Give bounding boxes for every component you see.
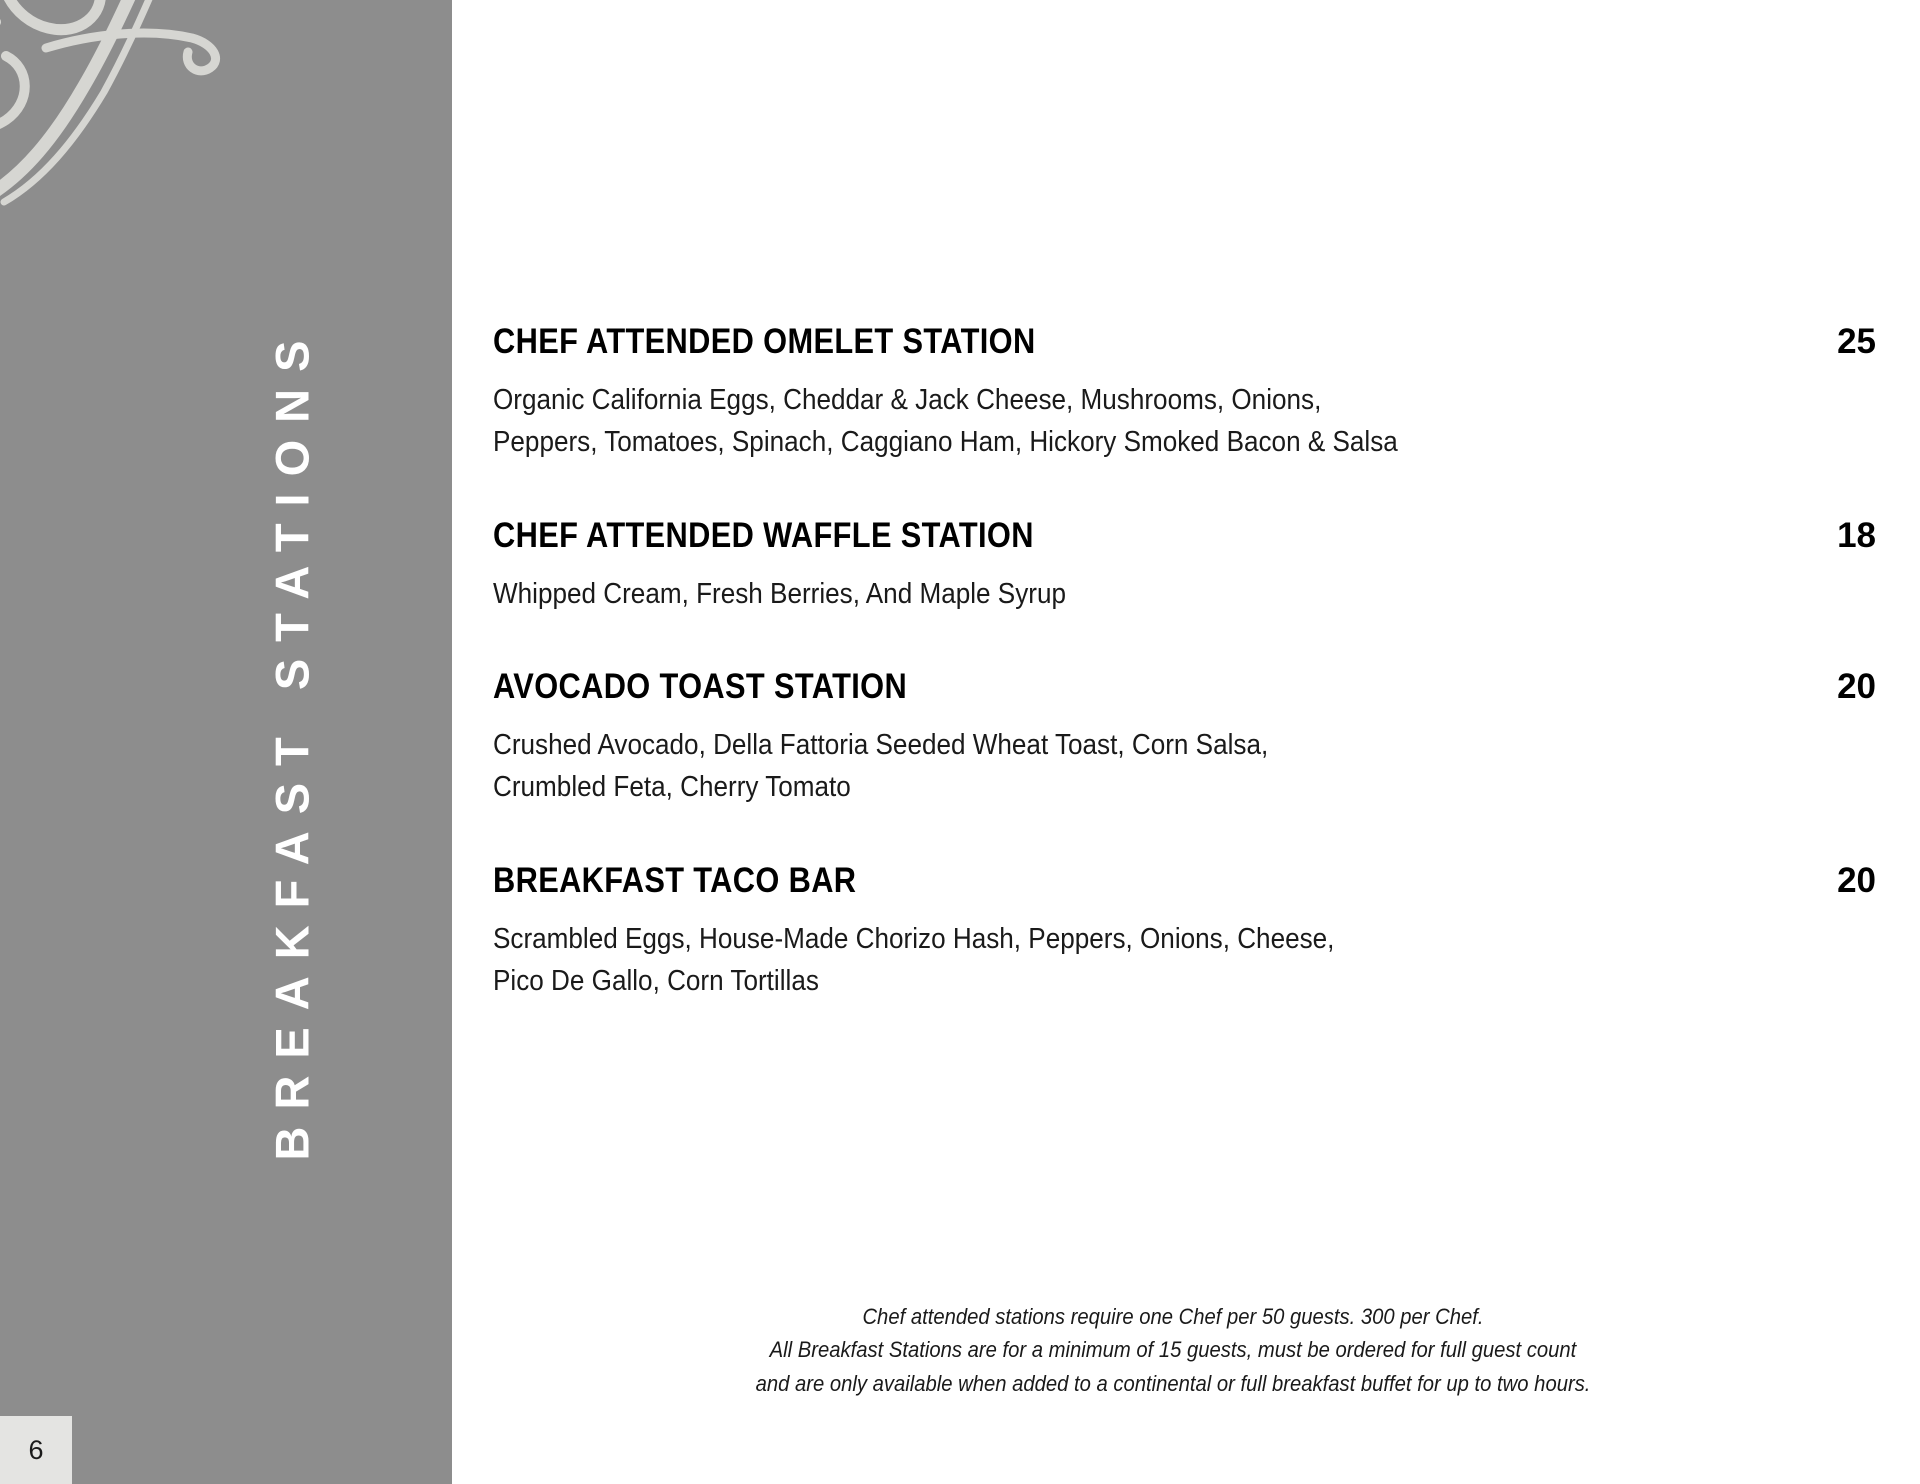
menu-item-name: BREAKFAST TACO BAR [493,861,856,901]
footer-note: Chef attended stations require one Chef … [493,1300,1853,1400]
footer-note-line: All Breakfast Stations are for a minimum… [547,1333,1798,1366]
menu-item-description: Crushed Avocado, Della Fattoria Seeded W… [493,724,1878,809]
sidebar: BREAKFAST STATIONS [0,0,452,1484]
sidebar-vertical-title: BREAKFAST STATIONS [0,0,452,1484]
menu-item-description-line: Crumbled Feta, Cherry Tomato [493,766,1740,808]
menu-item-name: AVOCADO TOAST STATION [493,667,907,707]
menu-item-price: 20 [1837,861,1878,901]
menu-item-description: Whipped Cream, Fresh Berries, And Maple … [493,573,1878,615]
menu-item: CHEF ATTENDED WAFFLE STATION 18 Whipped … [493,516,1878,615]
menu-item-price: 25 [1837,322,1878,362]
page-number: 6 [0,1416,72,1484]
menu-item-description-line: Crushed Avocado, Della Fattoria Seeded W… [493,724,1740,766]
footer-note-line: and are only available when added to a c… [547,1367,1798,1400]
menu-item-description-line: Scrambled Eggs, House-Made Chorizo Hash,… [493,918,1740,960]
main-content: CHEF ATTENDED OMELET STATION 25 Organic … [493,0,1878,1484]
menu-item-description-line: Pico De Gallo, Corn Tortillas [493,960,1740,1002]
menu-page: BREAKFAST STATIONS 6 CHEF ATTENDED OMELE… [0,0,1920,1484]
footer-note-line: Chef attended stations require one Chef … [547,1300,1798,1333]
menu-item: AVOCADO TOAST STATION 20 Crushed Avocado… [493,667,1878,809]
menu-item-name: CHEF ATTENDED OMELET STATION [493,322,1036,362]
menu-item-description: Scrambled Eggs, House-Made Chorizo Hash,… [493,918,1878,1003]
menu-item-description: Organic California Eggs, Cheddar & Jack … [493,379,1878,464]
menu-item-name: CHEF ATTENDED WAFFLE STATION [493,516,1034,556]
menu-item-description-line: Whipped Cream, Fresh Berries, And Maple … [493,573,1740,615]
menu-item-list: CHEF ATTENDED OMELET STATION 25 Organic … [493,322,1878,1002]
menu-item-description-line: Peppers, Tomatoes, Spinach, Caggiano Ham… [493,421,1740,463]
menu-item-header: AVOCADO TOAST STATION 20 [493,667,1878,707]
menu-item-price: 18 [1837,516,1878,556]
sidebar-title-text: BREAKFAST STATIONS [265,324,320,1161]
menu-item-header: CHEF ATTENDED OMELET STATION 25 [493,322,1878,362]
menu-item-description-line: Organic California Eggs, Cheddar & Jack … [493,379,1740,421]
menu-item-header: BREAKFAST TACO BAR 20 [493,861,1878,901]
menu-item-price: 20 [1837,667,1878,707]
menu-item-header: CHEF ATTENDED WAFFLE STATION 18 [493,516,1878,556]
page-number-value: 6 [28,1437,43,1464]
menu-item: CHEF ATTENDED OMELET STATION 25 Organic … [493,322,1878,464]
menu-item: BREAKFAST TACO BAR 20 Scrambled Eggs, Ho… [493,861,1878,1003]
